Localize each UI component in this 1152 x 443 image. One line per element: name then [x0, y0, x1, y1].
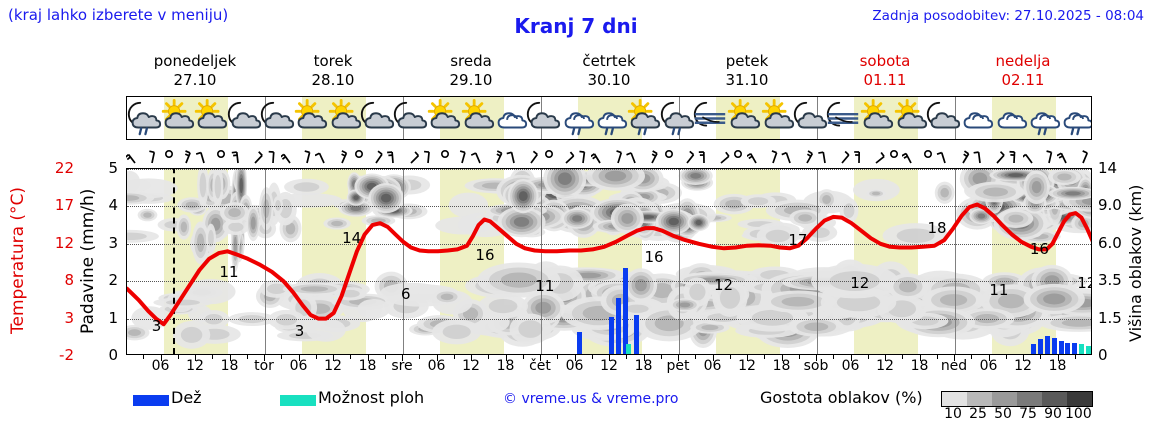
temperature-tick: 17: [34, 196, 74, 214]
temperature-value-label: 14: [342, 229, 361, 247]
x-axis-tickmark: [402, 355, 403, 361]
temperature-tick: 8: [34, 271, 74, 289]
moon-cloud-icon: [225, 99, 263, 139]
x-axis-tickmark: [195, 355, 196, 361]
moon-cloud-icon: [391, 99, 429, 139]
cloud-height-tick: 1.5: [1098, 309, 1132, 327]
temperature-curve: [127, 169, 1092, 355]
temperature-value-label: 16: [475, 246, 494, 264]
x-axis-tickmark: [644, 355, 645, 361]
precipitation-tick: 3: [100, 234, 118, 252]
cloud-density-tick: 10: [940, 406, 966, 422]
precipitation-tick: 1: [100, 309, 118, 327]
copyright-link[interactable]: © vreme.us & vreme.pro: [503, 391, 678, 407]
x-axis-minor-tickmark: [730, 355, 731, 359]
cloud-drizzle-icon: [558, 99, 596, 139]
x-axis-tickmark: [851, 355, 852, 361]
precipitation-tick: 2: [100, 271, 118, 289]
sun-cloud-icon: [291, 99, 329, 139]
temperature-value-label: 3: [295, 322, 305, 340]
x-axis-minor-tickmark: [488, 355, 489, 359]
x-axis-minor-tickmark: [902, 355, 903, 359]
cloud-drizzle-icon: [1057, 99, 1092, 139]
cloud-height-tick: 3.5: [1098, 271, 1132, 289]
day-name: petek: [678, 52, 816, 71]
day-name: ponedeljek: [126, 52, 264, 71]
day-header-6: nedelja02.11: [954, 52, 1092, 90]
temperature-value-label: 16: [1030, 240, 1049, 258]
x-axis-tickmark: [299, 355, 300, 361]
cloud-icon: [491, 99, 529, 139]
sun-cloud-small-icon: [758, 99, 796, 139]
meteogram-plot: 311314616111612171218111612: [126, 168, 1092, 355]
x-axis-tickmark: [609, 355, 610, 361]
x-axis-minor-tickmark: [1006, 355, 1007, 359]
cloud-height-tick: 6.0: [1098, 234, 1132, 252]
x-axis-tickmark: [506, 355, 507, 361]
temperature-axis-title: Temperatura (°C): [8, 170, 30, 350]
cloud-density-swatch: [1017, 392, 1042, 406]
cloud-density-swatch: [967, 392, 992, 406]
sun-cloud-icon: [724, 99, 762, 139]
day-date: 29.10: [402, 71, 540, 90]
x-axis-minor-tickmark: [661, 355, 662, 359]
sun-cloud-icon: [191, 99, 229, 139]
cloud-icon: [957, 99, 995, 139]
moon-cloud-icon: [524, 99, 562, 139]
x-axis-tickmark: [713, 355, 714, 361]
day-date: 01.11: [816, 71, 954, 90]
day-header-0: ponedeljek27.10: [126, 52, 264, 90]
x-axis-minor-tickmark: [143, 355, 144, 359]
rain-legend-label: Dež: [171, 388, 202, 407]
x-axis-tickmark: [540, 355, 541, 361]
temperature-value-label: 6: [401, 285, 411, 303]
x-axis-minor-tickmark: [626, 355, 627, 359]
precipitation-tick: 5: [100, 159, 118, 177]
x-axis-minor-tickmark: [316, 355, 317, 359]
x-axis-tickmark: [920, 355, 921, 361]
moon-cloud-icon: [358, 99, 396, 139]
x-axis-minor-tickmark: [695, 355, 696, 359]
x-axis-tickmark: [954, 355, 955, 361]
day-header-5: sobota01.11: [816, 52, 954, 90]
x-axis-minor-tickmark: [212, 355, 213, 359]
cloud-density-swatch: [942, 392, 967, 406]
day-date: 02.11: [954, 71, 1092, 90]
cloud-drizzle-icon: [1024, 99, 1062, 139]
cloud-density-swatch: [1067, 392, 1092, 406]
x-axis-tickmark: [678, 355, 679, 361]
cloud-height-tick: 9.0: [1098, 196, 1132, 214]
day-header-3: četrtek30.10: [540, 52, 678, 90]
x-axis-minor-tickmark: [592, 355, 593, 359]
x-axis-tickmark: [989, 355, 990, 361]
temperature-value-label: 12: [1077, 274, 1092, 292]
cloud-height-tick: 0: [1098, 346, 1132, 364]
temperature-tick: 22: [34, 159, 74, 177]
moon-cloud-icon: [258, 99, 296, 139]
x-axis-minor-tickmark: [799, 355, 800, 359]
sun-cloud-icon: [891, 99, 929, 139]
day-header-2: sreda29.10: [402, 52, 540, 90]
sun-cloud-icon: [857, 99, 895, 139]
day-date: 28.10: [264, 71, 402, 90]
cloud-density-tick: 50: [990, 406, 1016, 422]
temperature-tick: -2: [34, 346, 74, 364]
x-axis-tickmark: [816, 355, 817, 361]
sun-cloud-icon: [424, 99, 462, 139]
x-axis-minor-tickmark: [350, 355, 351, 359]
moon-fog-icon: [691, 99, 729, 139]
x-axis-tickmark: [230, 355, 231, 361]
temperature-value-label: 16: [644, 248, 663, 266]
cloud-density-tick: 100: [1065, 406, 1091, 422]
day-name: nedelja: [954, 52, 1092, 71]
temperature-value-label: 3: [152, 317, 162, 335]
x-axis-tickmark: [575, 355, 576, 361]
x-axis-tickmark: [1058, 355, 1059, 361]
cloud-icon: [991, 99, 1029, 139]
x-axis-minor-tickmark: [557, 355, 558, 359]
x-axis-tickmark: [885, 355, 886, 361]
x-axis-minor-tickmark: [454, 355, 455, 359]
day-name: sobota: [816, 52, 954, 71]
x-axis-minor-tickmark: [868, 355, 869, 359]
x-axis-tickmark: [437, 355, 438, 361]
precipitation-tick: 4: [100, 196, 118, 214]
last-update-label: Zadnja posodobitev: 27.10.2025 - 08:04: [872, 8, 1144, 24]
day-header-1: torek28.10: [264, 52, 402, 90]
cloud-density-legend-label: Gostota oblakov (%): [760, 388, 923, 407]
cloud-density-tick: 75: [1015, 406, 1041, 422]
moon-cloud-icon: [924, 99, 962, 139]
rain-legend-swatch: [133, 395, 169, 406]
x-axis-minor-tickmark: [833, 355, 834, 359]
x-axis-minor-tickmark: [523, 355, 524, 359]
x-axis-minor-tickmark: [764, 355, 765, 359]
cloud-density-colorbar: [941, 391, 1093, 407]
temperature-value-label: 12: [714, 276, 733, 294]
temperature-value-label: 17: [788, 231, 807, 249]
showers-legend-label: Možnost ploh: [318, 388, 424, 407]
x-axis-tickmark: [782, 355, 783, 361]
x-axis-minor-tickmark: [281, 355, 282, 359]
x-axis-tickmark: [1023, 355, 1024, 361]
temperature-value-label: 11: [989, 281, 1008, 299]
x-axis-tickmark: [333, 355, 334, 361]
showers-legend-swatch: [280, 395, 316, 406]
cloud-density-tick: 25: [965, 406, 991, 422]
x-axis-minor-tickmark: [178, 355, 179, 359]
wind-barb-band: [126, 140, 1092, 168]
day-date: 27.10: [126, 71, 264, 90]
moon-cloud-drizzle-icon: [658, 99, 696, 139]
x-axis-tickmark: [368, 355, 369, 361]
x-axis-minor-tickmark: [1075, 355, 1076, 359]
day-name: četrtek: [540, 52, 678, 71]
cloud-height-tick: 14: [1098, 159, 1132, 177]
x-axis-minor-tickmark: [247, 355, 248, 359]
weather-icon-band: [126, 96, 1092, 140]
temperature-tick: 12: [34, 234, 74, 252]
moon-cloud-icon: [791, 99, 829, 139]
sun-cloud-icon: [325, 99, 363, 139]
temperature-value-label: 12: [850, 274, 869, 292]
temperature-value-label: 11: [535, 277, 554, 295]
day-date: 30.10: [540, 71, 678, 90]
cloud-density-swatch: [1042, 392, 1067, 406]
temperature-tick: 3: [34, 309, 74, 327]
x-axis-tickmark: [161, 355, 162, 361]
cloud-sun-drizzle-icon: [624, 99, 662, 139]
cloud-density-tick: 90: [1040, 406, 1066, 422]
temperature-value-label: 11: [219, 263, 238, 281]
x-axis-tickmark: [471, 355, 472, 361]
day-name: sreda: [402, 52, 540, 71]
x-axis-minor-tickmark: [1040, 355, 1041, 359]
precipitation-tick: 0: [100, 346, 118, 364]
day-date: 31.10: [678, 71, 816, 90]
x-axis-tickmark: [747, 355, 748, 361]
cloud-drizzle-icon: [591, 99, 629, 139]
moon-fog-icon: [824, 99, 862, 139]
cloud-density-swatch: [992, 392, 1017, 406]
x-axis-minor-tickmark: [937, 355, 938, 359]
sun-cloud-icon: [158, 99, 196, 139]
temperature-value-label: 18: [928, 219, 947, 237]
precipitation-axis-title: Padavine (mm/h): [78, 170, 100, 352]
x-axis-minor-tickmark: [971, 355, 972, 359]
day-name: torek: [264, 52, 402, 71]
day-headers: ponedeljek27.10torek28.10sreda29.10četrt…: [126, 52, 1092, 94]
x-axis-tickmark: [264, 355, 265, 361]
sun-cloud-icon: [458, 99, 496, 139]
x-axis-minor-tickmark: [419, 355, 420, 359]
day-header-4: petek31.10: [678, 52, 816, 90]
x-axis-minor-tickmark: [385, 355, 386, 359]
